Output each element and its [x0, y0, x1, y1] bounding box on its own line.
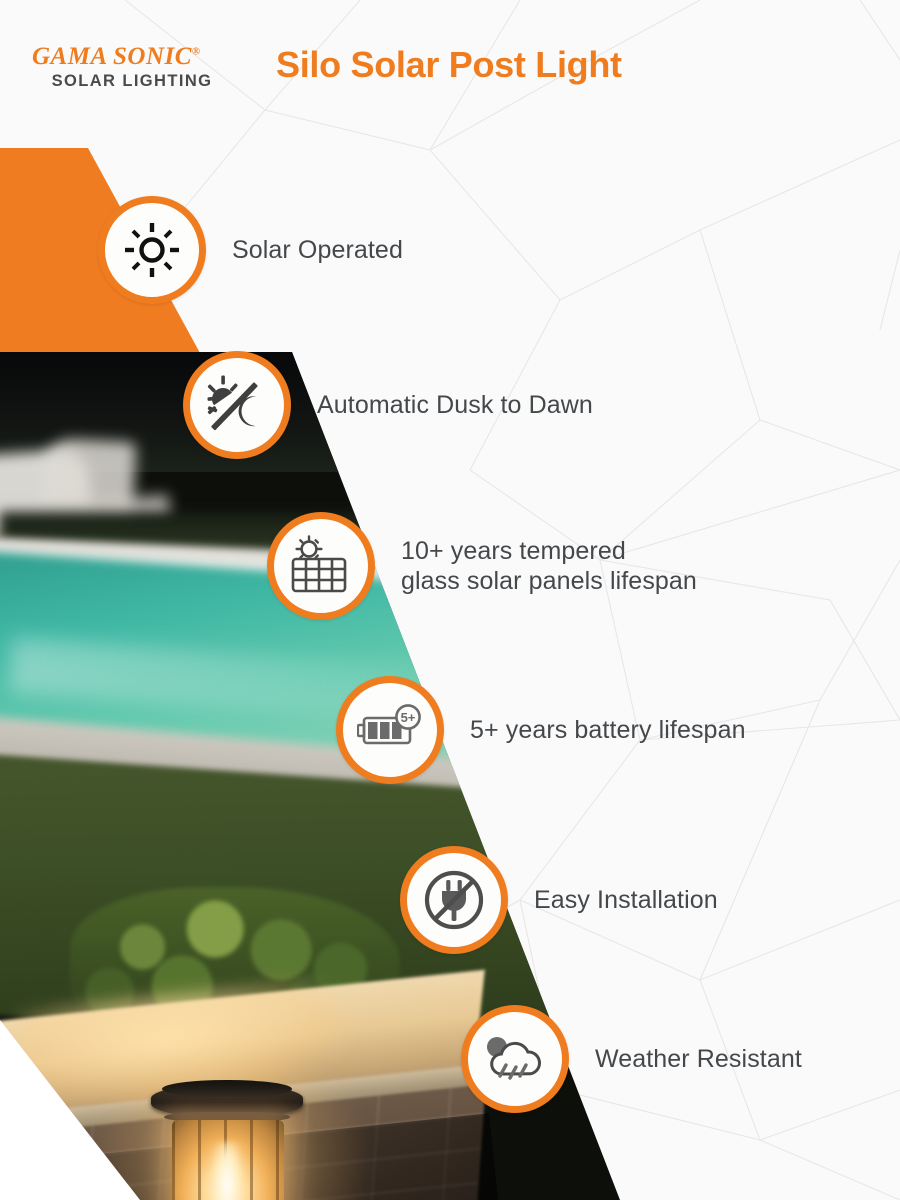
feature-badge-weather [461, 1005, 569, 1113]
brand-logo: GAMA SONIC® SOLAR LIGHTING [32, 44, 252, 91]
feature-row-solar-operated: Solar Operated [98, 196, 403, 304]
infographic-canvas: GAMA SONIC® SOLAR LIGHTING Silo Solar Po… [0, 0, 900, 1200]
feature-badge-solar-operated [98, 196, 206, 304]
feature-row-weather: Weather Resistant [461, 1005, 802, 1113]
feature-row-easy-install: Easy Installation [400, 846, 718, 954]
feature-badge-easy-install [400, 846, 508, 954]
feature-row-battery-lifespan: 5+ 5+ years battery lifespan [336, 676, 746, 784]
feature-label: Easy Installation [534, 885, 718, 916]
no-plug-icon [422, 868, 486, 932]
brand-name-text: GAMA SONIC [32, 43, 192, 70]
page-title: Silo Solar Post Light [276, 44, 622, 86]
header: GAMA SONIC® SOLAR LIGHTING Silo Solar Po… [0, 0, 900, 140]
feature-row-dusk-to-dawn: Automatic Dusk to Dawn [183, 351, 593, 459]
feature-badge-panel-lifespan [267, 512, 375, 620]
feature-row-panel-lifespan: 10+ years tempered glass solar panels li… [267, 512, 697, 620]
feature-label: Weather Resistant [595, 1044, 802, 1075]
battery-badge-value: 5+ [401, 710, 416, 725]
battery-icon: 5+ [357, 704, 423, 756]
feature-badge-battery-lifespan: 5+ [336, 676, 444, 784]
feature-badge-dusk-to-dawn [183, 351, 291, 459]
sun-icon [122, 220, 182, 280]
brand-name: GAMA SONIC® [32, 44, 252, 69]
silo-post-light-fixture [148, 1076, 308, 1200]
feature-label: Automatic Dusk to Dawn [317, 390, 593, 421]
feature-label: 5+ years battery lifespan [470, 715, 746, 746]
rain-cloud-icon [482, 1032, 548, 1086]
feature-label: Solar Operated [232, 235, 403, 266]
registered-trademark-icon: ® [192, 46, 201, 58]
brand-tagline: SOLAR LIGHTING [32, 72, 232, 91]
feature-label: 10+ years tempered glass solar panels li… [401, 536, 697, 597]
white-corner-shape [0, 900, 140, 1200]
solar-panel-icon [289, 535, 353, 597]
sun-moon-icon [206, 374, 268, 436]
